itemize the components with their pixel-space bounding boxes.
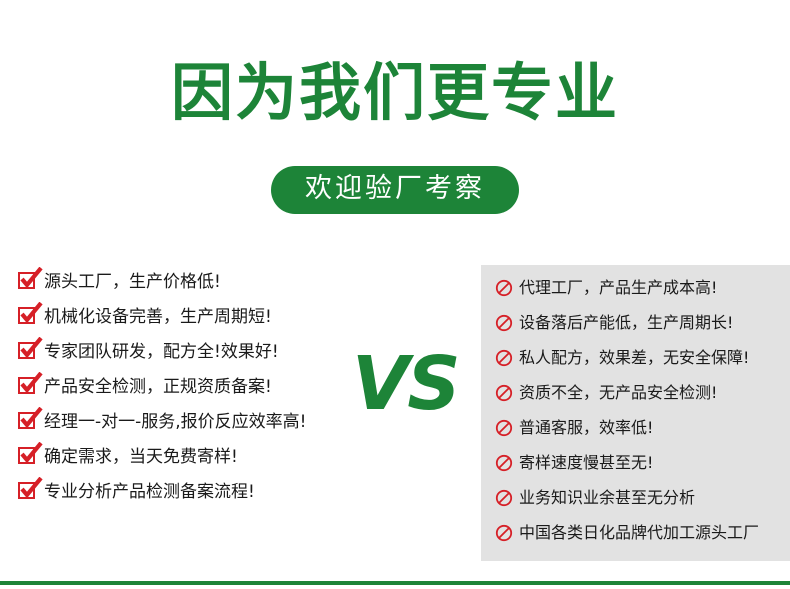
list-item: 业务知识业余甚至无分析 (495, 483, 790, 516)
list-item: 寄样速度慢甚至无! (495, 448, 790, 481)
list-item-label: 专家团队研发，配方全!效果好! (44, 337, 279, 365)
checkbox-checked-icon (18, 267, 44, 289)
list-item-label: 业务知识业余甚至无分析 (519, 483, 695, 511)
list-item: 源头工厂，生产价格低! (18, 267, 368, 300)
prohibited-icon (495, 413, 519, 437)
page-title: 因为我们更专业 (0, 57, 790, 129)
prohibited-icon (495, 378, 519, 402)
advantages-list: 源头工厂，生产价格低! 机械化设备完善，生产周期短! (18, 267, 368, 512)
list-item: 产品安全检测，正规资质备案! (18, 372, 368, 405)
versus-label: VS (352, 347, 459, 421)
disadvantages-list: 代理工厂，产品生产成本高! 设备落后产能低，生产周期长! (495, 273, 790, 553)
welcome-inspection-badge: 欢迎验厂考察 (271, 166, 519, 214)
list-item-label: 寄样速度慢甚至无! (519, 448, 653, 476)
list-item-label: 代理工厂，产品生产成本高! (519, 273, 717, 301)
list-item: 私人配方，效果差，无安全保障! (495, 343, 790, 376)
disadvantages-panel: 代理工厂，产品生产成本高! 设备落后产能低，生产周期长! (481, 265, 790, 561)
list-item-label: 产品安全检测，正规资质备案! (44, 372, 272, 400)
list-item-label: 机械化设备完善，生产周期短! (44, 302, 272, 330)
checkbox-checked-icon (18, 302, 44, 324)
list-item: 经理一-对一-服务,报价反应效率高! (18, 407, 368, 440)
checkbox-checked-icon (18, 442, 44, 464)
checkbox-checked-icon (18, 407, 44, 429)
list-item-label: 设备落后产能低，生产周期长! (519, 308, 733, 336)
list-item-label: 普通客服，效率低! (519, 413, 653, 441)
list-item: 机械化设备完善，生产周期短! (18, 302, 368, 335)
prohibited-icon (495, 518, 519, 542)
list-item: 代理工厂，产品生产成本高! (495, 273, 790, 306)
checkbox-checked-icon (18, 477, 44, 499)
list-item: 普通客服，效率低! (495, 413, 790, 446)
prohibited-icon (495, 483, 519, 507)
list-item-label: 确定需求，当天免费寄样! (44, 442, 238, 470)
list-item-label: 资质不全，无产品安全检测! (519, 378, 717, 406)
bottom-divider (0, 581, 790, 585)
list-item-label: 经理一-对一-服务,报价反应效率高! (44, 407, 307, 435)
prohibited-icon (495, 308, 519, 332)
list-item: 设备落后产能低，生产周期长! (495, 308, 790, 341)
list-item: 确定需求，当天免费寄样! (18, 442, 368, 475)
checkbox-checked-icon (18, 372, 44, 394)
list-item-label: 源头工厂，生产价格低! (44, 267, 221, 295)
prohibited-icon (495, 273, 519, 297)
list-item: 资质不全，无产品安全检测! (495, 378, 790, 411)
promo-banner: 因为我们更专业 欢迎验厂考察 源头工厂，生产价格低! (0, 0, 790, 589)
prohibited-icon (495, 448, 519, 472)
comparison-section: 源头工厂，生产价格低! 机械化设备完善，生产周期短! (0, 262, 790, 562)
list-item: 专业分析产品检测备案流程! (18, 477, 368, 510)
checkbox-checked-icon (18, 337, 44, 359)
list-item-label: 中国各类日化品牌代加工源头工厂 (519, 518, 759, 546)
badge-container: 欢迎验厂考察 (0, 166, 790, 214)
list-item: 中国各类日化品牌代加工源头工厂 (495, 518, 790, 551)
list-item: 专家团队研发，配方全!效果好! (18, 337, 368, 370)
list-item-label: 私人配方，效果差，无安全保障! (519, 343, 749, 371)
list-item-label: 专业分析产品检测备案流程! (44, 477, 255, 505)
prohibited-icon (495, 343, 519, 367)
